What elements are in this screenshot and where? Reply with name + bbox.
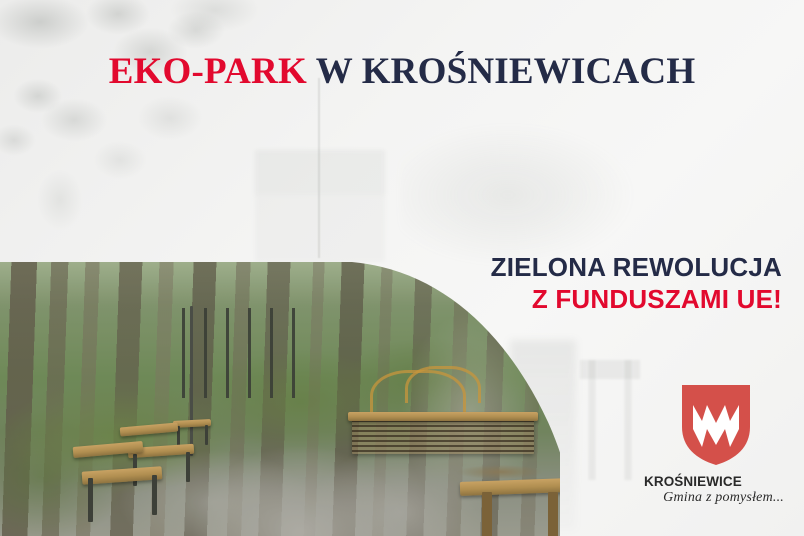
- bench-distant-leg: [205, 425, 208, 445]
- arbor-decorative: [405, 366, 481, 403]
- background-structure: [255, 150, 385, 262]
- page-title: EKO-PARK W KROŚNIEWICACH: [0, 53, 804, 90]
- page-title-rest: W KROŚNIEWICACH: [307, 51, 695, 92]
- poster: EKO-PARK W KROŚNIEWICACH ZIELONA REWOLUC…: [0, 0, 804, 536]
- woven-fence: [352, 420, 534, 454]
- bench-foreground-leg: [548, 492, 558, 536]
- bench-near-leg: [88, 478, 93, 522]
- bench-middle-leg: [186, 452, 190, 482]
- page-title-highlight: EKO-PARK: [109, 51, 307, 92]
- shield-icon: [680, 383, 752, 467]
- logo-municipality-name: KROŚNIEWICE: [640, 474, 792, 489]
- bench-near-leg: [152, 475, 157, 515]
- municipality-logo: KROŚNIEWICE Gmina z pomysłem...: [640, 383, 792, 506]
- subheading-line-2: Z FUNDUSZAMI UE!: [491, 284, 782, 316]
- background-pole: [318, 78, 320, 258]
- fence-top-rail: [348, 412, 538, 421]
- background-column: [580, 360, 640, 480]
- lamp-post: [190, 306, 193, 456]
- background-tree-canopy: [400, 120, 640, 270]
- subheading: ZIELONA REWOLUCJA Z FUNDUSZAMI UE!: [491, 252, 782, 315]
- subheading-line-1: ZIELONA REWOLUCJA: [491, 252, 782, 284]
- bench-foreground-leg: [482, 492, 492, 536]
- logo-tagline: Gmina z pomysłem...: [640, 490, 792, 506]
- pergola-structure: [182, 308, 310, 398]
